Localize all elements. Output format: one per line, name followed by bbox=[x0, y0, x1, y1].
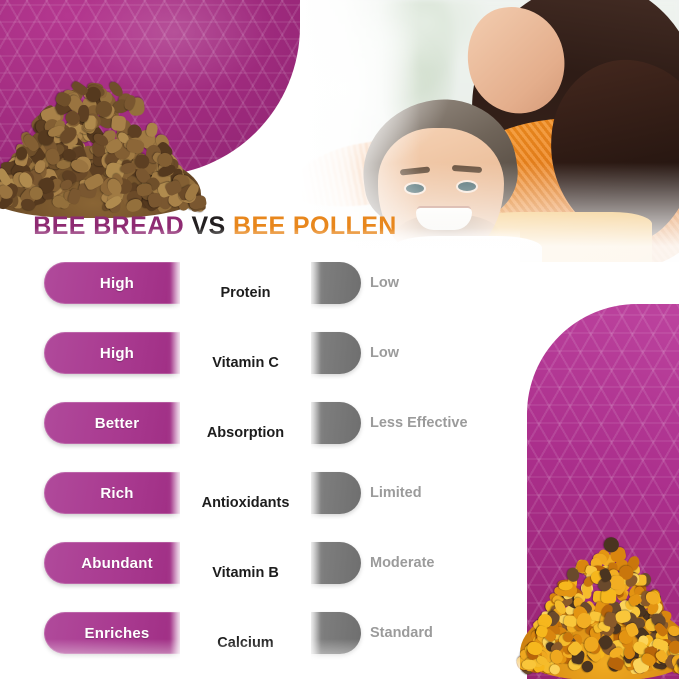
bee-bread-value: High bbox=[44, 332, 190, 374]
bottom-fade bbox=[0, 639, 520, 679]
bee-bread-value: Rich bbox=[44, 472, 190, 514]
attribute-cell: Antioxidants bbox=[180, 468, 311, 538]
attribute-label: Vitamin B bbox=[212, 565, 279, 581]
comparison-row: BetterLess Effective bbox=[0, 398, 679, 468]
comparison-row: AbundantModerate bbox=[0, 538, 679, 608]
attribute-column: ProteinVitamin CAbsorptionAntioxidantsVi… bbox=[180, 248, 311, 679]
attribute-cell: Absorption bbox=[180, 398, 311, 468]
bee-pollen-value: Moderate bbox=[370, 542, 434, 584]
attribute-label: Vitamin C bbox=[212, 355, 279, 371]
attribute-cell: Vitamin C bbox=[180, 328, 311, 398]
attribute-label: Absorption bbox=[207, 425, 284, 441]
bee-bread-value: Better bbox=[44, 402, 190, 444]
bee-bread-value: Abundant bbox=[44, 542, 190, 584]
comparison-row: HighLow bbox=[0, 328, 679, 398]
bee-bread-value: High bbox=[44, 262, 190, 304]
comparison-row: HighLow bbox=[0, 258, 679, 328]
comparison-row: RichLimited bbox=[0, 468, 679, 538]
infographic-canvas: BEE BREAD VS BEE POLLEN HighLowHighLowBe… bbox=[0, 0, 679, 679]
bee-pollen-value: Low bbox=[370, 262, 399, 304]
attribute-cell: Vitamin B bbox=[180, 538, 311, 608]
bee-pollen-value: Limited bbox=[370, 472, 422, 514]
attribute-label: Protein bbox=[221, 285, 271, 301]
granule bbox=[145, 122, 158, 137]
attribute-label: Antioxidants bbox=[202, 495, 290, 511]
granule bbox=[110, 115, 126, 131]
bee-pollen-value: Less Effective bbox=[370, 402, 468, 444]
bee-bread-pile bbox=[0, 86, 201, 218]
attribute-cell: Protein bbox=[180, 258, 311, 328]
granule bbox=[157, 152, 172, 167]
bee-pollen-value: Low bbox=[370, 332, 399, 374]
comparison-table: HighLowHighLowBetterLess EffectiveRichLi… bbox=[0, 258, 679, 678]
